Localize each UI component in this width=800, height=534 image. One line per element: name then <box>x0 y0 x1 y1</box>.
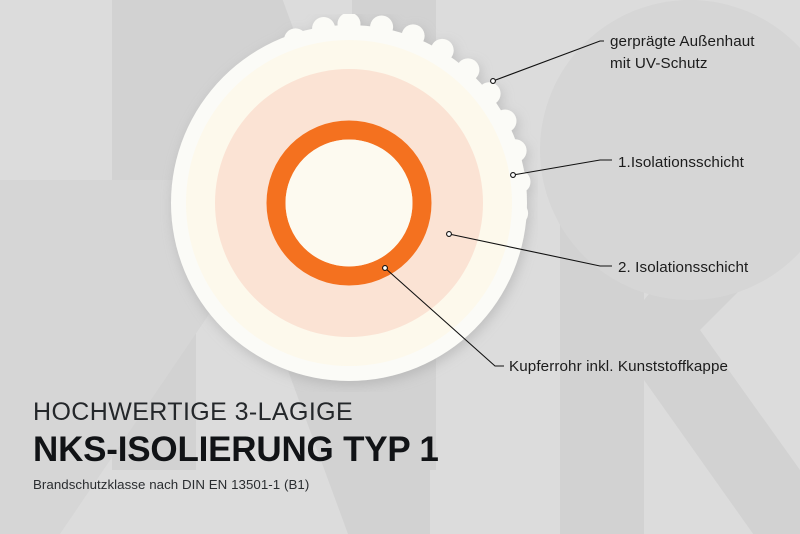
callout-label-aussenhaut: gerprägte Außenhaut mit UV-Schutz <box>610 31 755 74</box>
infographic-canvas: gerprägte Außenhaut mit UV-Schutz 1.Isol… <box>0 0 800 534</box>
callout-label-kupferrohr: Kupferrohr inkl. Kunststoffkappe <box>509 356 728 378</box>
callout-label-isolation-2: 2. Isolationsschicht <box>618 257 748 279</box>
title-headline: NKS-ISOLIERUNG TYP 1 <box>33 429 553 470</box>
title-block: HOCHWERTIGE 3-LAGIGE NKS-ISOLIERUNG TYP … <box>33 398 553 493</box>
title-eyebrow: HOCHWERTIGE 3-LAGIGE <box>33 398 553 426</box>
pipe-core <box>286 140 413 267</box>
pipe-cross-section <box>160 14 538 392</box>
callout-label-isolation-1: 1.Isolationsschicht <box>618 152 744 174</box>
title-subline: Brandschutzklasse nach DIN EN 13501-1 (B… <box>33 477 553 493</box>
